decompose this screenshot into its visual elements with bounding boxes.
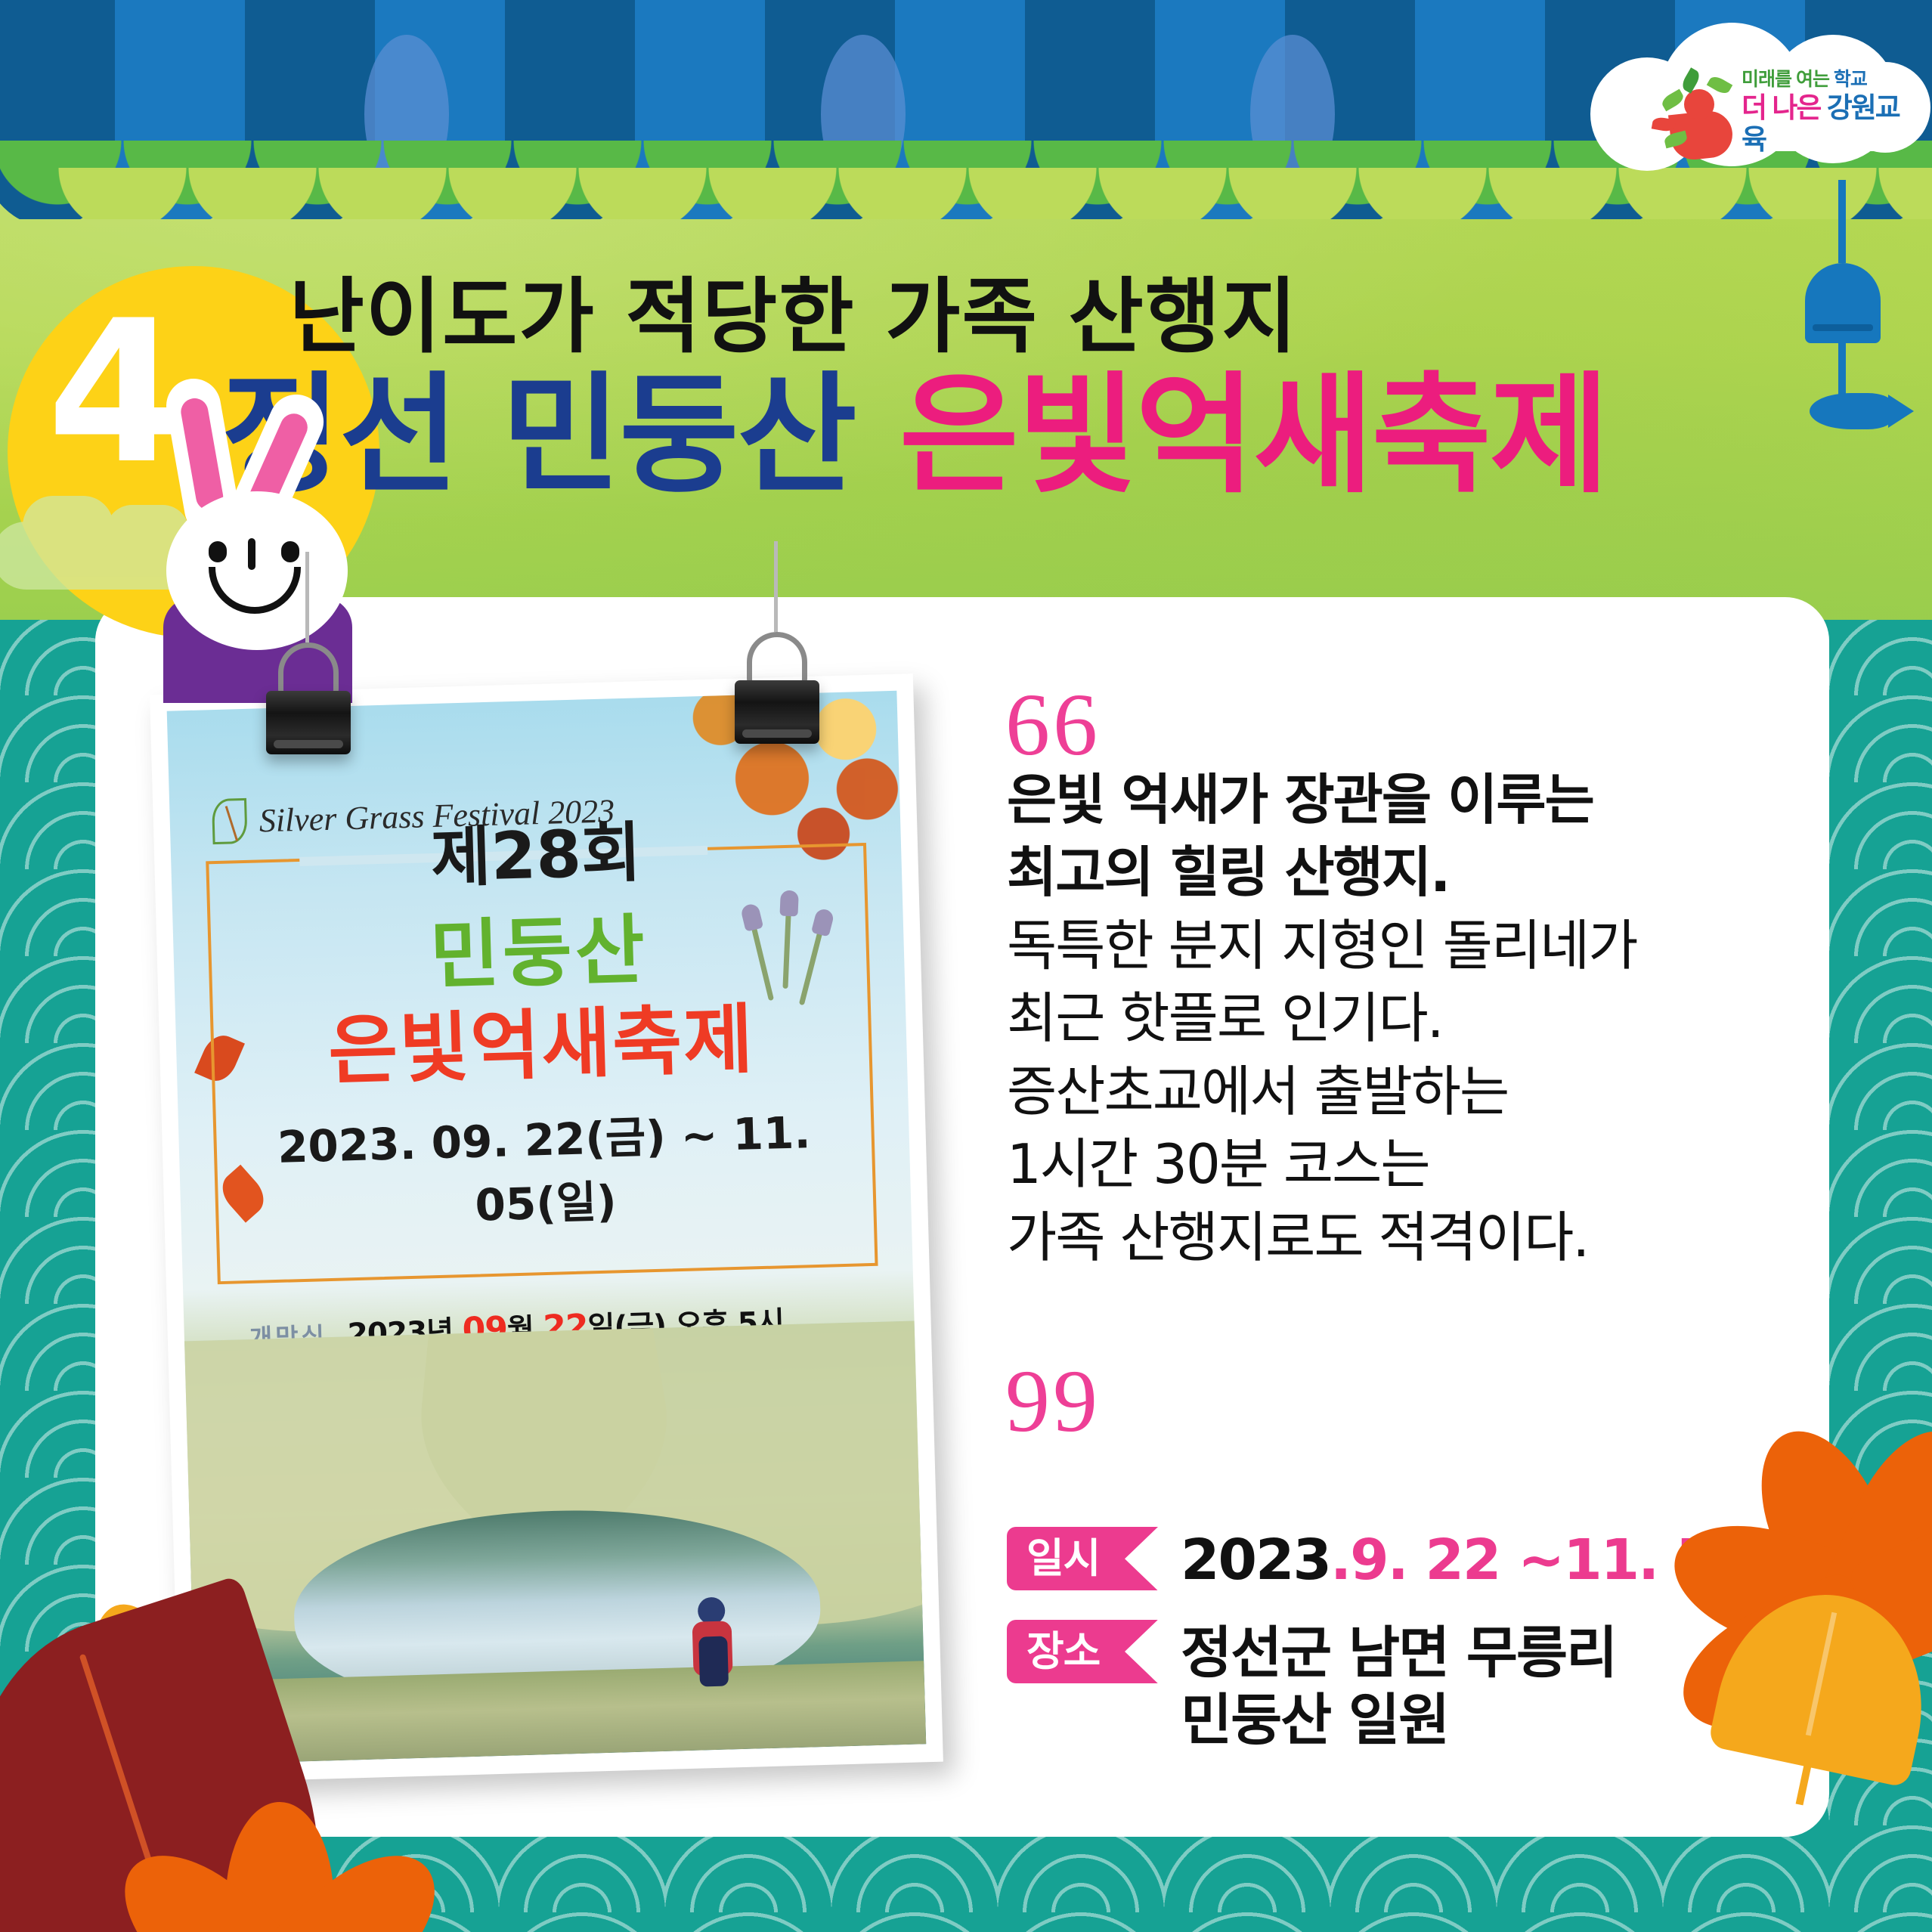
poster-title-box: 제28회 민둥산 은빛억새축제 2023. 09. 22(금) ~ 11. 05… (206, 843, 878, 1284)
event-date-value: 2023.9. 22 ~11. 5 (1181, 1527, 1714, 1594)
quote-open-mark: 66 (1005, 680, 1101, 769)
event-place-row: 장소 정선군 남면 무릉리 민둥산 일원 (1007, 1620, 1714, 1754)
event-place-line2: 민둥산 일원 (1181, 1687, 1616, 1754)
binder-clip-icon (732, 624, 822, 753)
quote-line: 최근 핫플로 인기다. (1007, 982, 1808, 1054)
festival-poster: Silver Grass Festival 2023 제28회 민둥산 은빛억새… (150, 673, 943, 1783)
quote-body: 은빛 억새가 장관을 이루는 최고의 힐링 산행지. 독특한 분지 지형인 돌리… (1007, 763, 1808, 1274)
page-title-part2: 은빛억새축제 (899, 359, 1608, 511)
event-place-line1: 정선군 남면 무릉리 (1181, 1620, 1616, 1687)
rabbit-mascot-icon (121, 370, 393, 673)
place-label-badge: 장소 (1007, 1620, 1158, 1683)
quote-line: 은빛 억새가 장관을 이루는 (1007, 763, 1808, 836)
quote-close-mark: 99 (1005, 1357, 1101, 1446)
quote-line: 최고의 힐링 산행지. (1007, 836, 1808, 909)
logo-line2-part1: 더 나은 (1742, 92, 1820, 123)
event-date-row: 일시 2023.9. 22 ~11. 5 (1007, 1527, 1714, 1594)
card-canvas: 4 미래를 여는 학교 더 (0, 0, 1932, 1932)
logo-line1-part1: 미래를 여는 (1742, 69, 1829, 90)
silver-grass-icon (747, 899, 833, 1015)
poster-period: 2023. 09. 22(금) ~ 11. 05(일) (216, 1095, 874, 1240)
logo-line1-part2: 학교 (1834, 69, 1867, 90)
quote-line: 1시간 30분 코스는 (1007, 1128, 1808, 1200)
ginkgo-leaf-icon (1723, 1595, 1927, 1769)
quote-line: 증산초교에서 출발하는 (1007, 1055, 1808, 1128)
logo-figure-icon (1645, 68, 1735, 159)
date-label-badge: 일시 (1007, 1527, 1158, 1590)
organization-logo: 미래를 여는 학교 더 나은 강원교육 (1590, 21, 1915, 172)
quote-line: 독특한 분지 지형인 돌리네가 (1007, 909, 1808, 982)
hiker-figure (690, 1596, 735, 1711)
binder-clip-icon (263, 635, 354, 763)
quote-line: 가족 산행지로도 적격이다. (1007, 1201, 1808, 1274)
event-place-value: 정선군 남면 무릉리 민둥산 일원 (1181, 1620, 1616, 1754)
event-date-year: 2023 (1181, 1528, 1330, 1593)
poster-photo (184, 1321, 926, 1764)
maple-leaf-icon (121, 1738, 438, 1932)
event-info: 일시 2023.9. 22 ~11. 5 장소 정선군 남면 무릉리 민둥산 일… (1007, 1527, 1714, 1779)
